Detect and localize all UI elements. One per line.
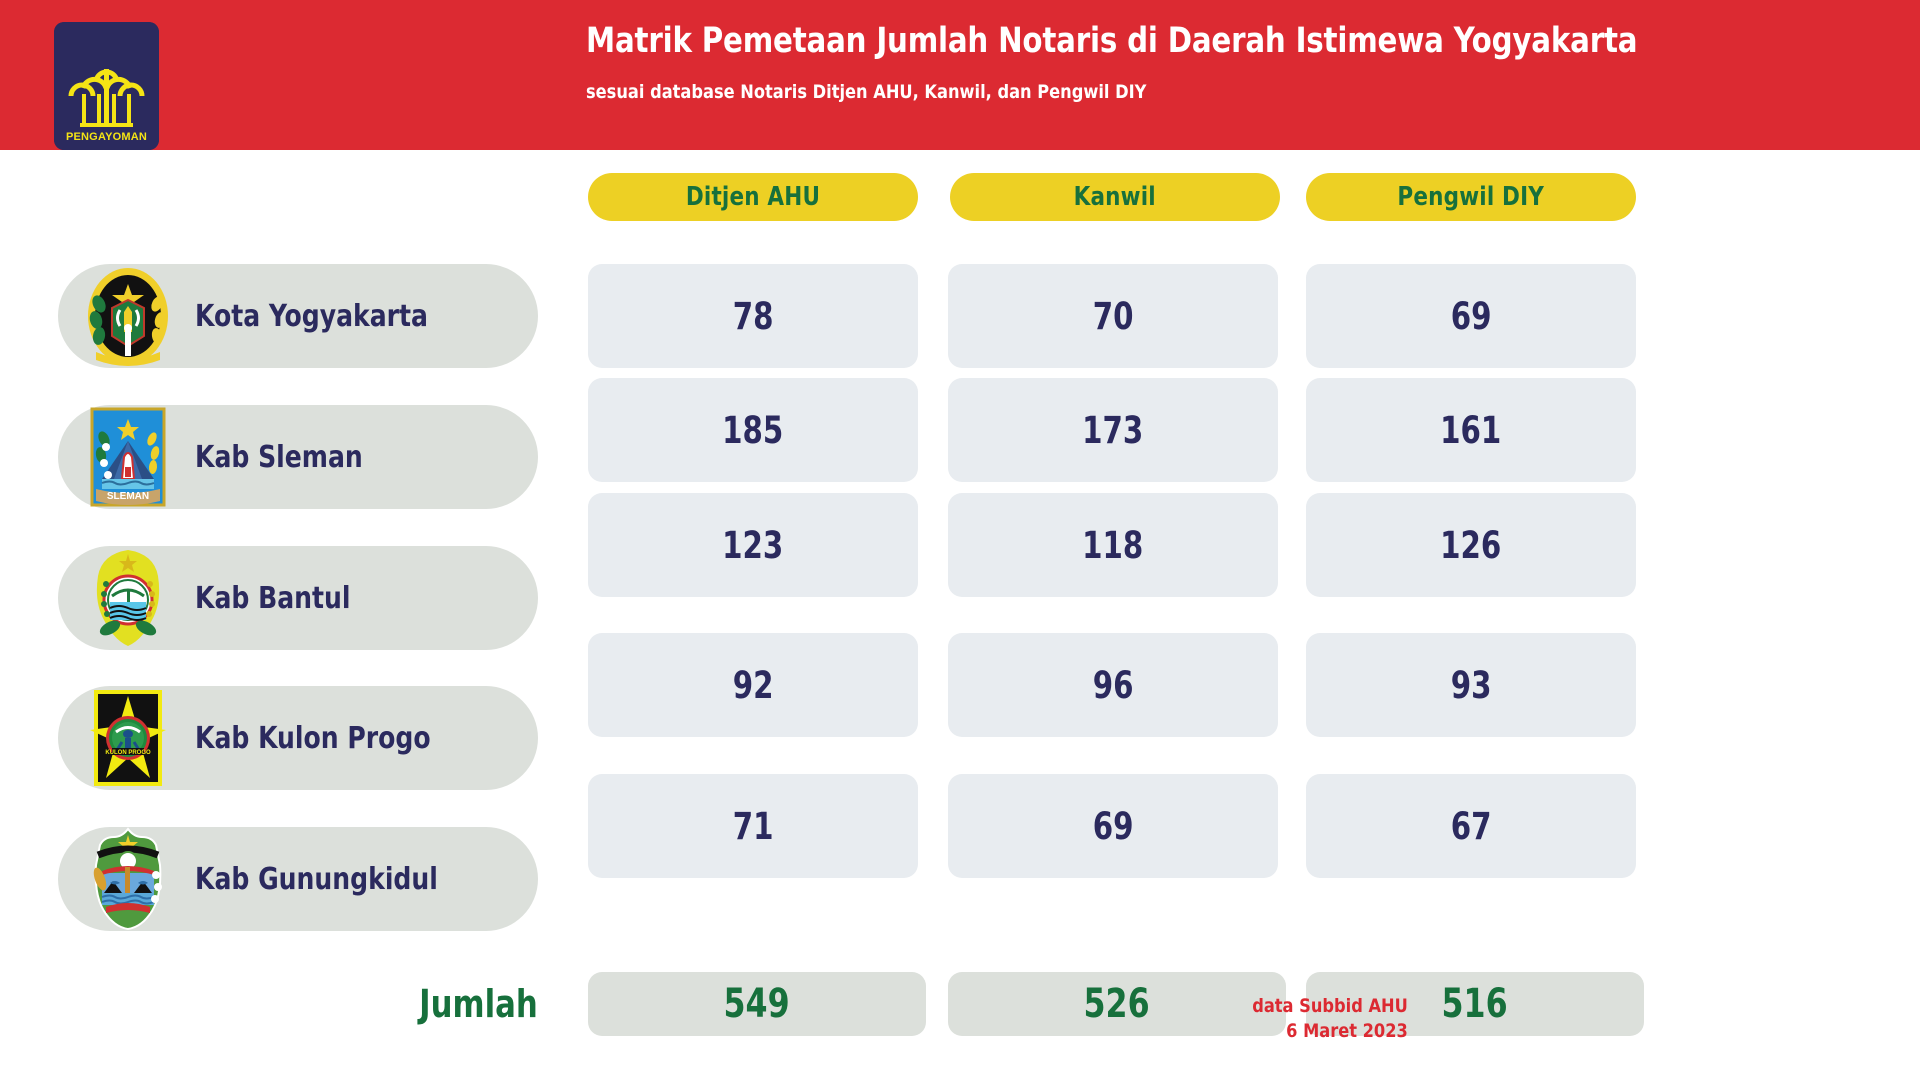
column-header-ditjen-ahu[interactable]: Ditjen AHU [588,173,918,221]
row-label-kota-yogyakarta[interactable]: Kota Yogyakarta [58,264,538,368]
data-cell: 70 [948,264,1278,368]
row-label-text: Kab Sleman [195,440,363,475]
row-label-text: Kab Bantul [195,581,350,616]
row-label-kab-sleman[interactable]: SLEMAN Kab Sleman [58,405,538,509]
total-label-text: Jumlah [419,982,538,1026]
column-header-kanwil[interactable]: Kanwil [950,173,1280,221]
crest-kab-bantul-icon [80,546,176,650]
page-title: Matrik Pemetaan Jumlah Notaris di Daerah… [586,20,1628,62]
cell-value: 92 [733,664,774,707]
data-cell: 126 [1306,493,1636,597]
cell-value: 173 [1082,409,1143,452]
data-cell: 93 [1306,633,1636,737]
cell-value: 118 [1082,524,1143,567]
cell-value: 161 [1440,409,1501,452]
data-cell: 185 [588,378,918,482]
column-header-label: Ditjen AHU [686,182,820,212]
poster-root: PENGAYOMAN Matrik Pemetaan Jumlah Notari… [0,0,1920,1080]
cell-value: 78 [733,295,774,338]
total-value: 516 [1442,981,1508,1027]
row-label-text: Kab Gunungkidul [195,862,438,897]
data-cell: 173 [948,378,1278,482]
data-cell: 96 [948,633,1278,737]
row-label-text: Kota Yogyakarta [195,299,428,334]
column-header-label: Kanwil [1074,182,1156,212]
column-header-pengwil-diy[interactable]: Pengwil DIY [1306,173,1636,221]
pengayoman-banyan-tree-icon: PENGAYOMAN [54,22,159,150]
data-cell: 123 [588,493,918,597]
header-text-block: Matrik Pemetaan Jumlah Notaris di Daerah… [586,20,1706,104]
credit-source: data Subbid AHU [1252,994,1408,1019]
cell-value: 70 [1093,295,1134,338]
total-value: 549 [724,981,790,1027]
data-cell: 161 [1306,378,1636,482]
cell-value: 93 [1451,664,1492,707]
data-cell: 69 [948,774,1278,878]
pengayoman-logo: PENGAYOMAN [54,22,159,150]
total-cell-ditjen-ahu: 549 [588,972,926,1036]
column-header-label: Pengwil DIY [1398,182,1545,212]
data-source-credit: data Subbid AHU 6 Maret 2023 [1244,994,1408,1044]
crest-kab-gunungkidul-icon [80,827,176,931]
credit-date: 6 Maret 2023 [1252,1019,1408,1044]
crest-kota-yogyakarta-icon [80,264,176,368]
cell-value: 71 [733,805,774,848]
cell-value: 69 [1451,295,1492,338]
page-subtitle: sesuai database Notaris Ditjen AHU, Kanw… [586,80,1650,104]
cell-value: 67 [1451,805,1492,848]
cell-value: 185 [722,409,783,452]
cell-value: 96 [1093,664,1134,707]
cell-value: 123 [722,524,783,567]
svg-text:KULON PROGO: KULON PROGO [105,750,151,756]
cell-value: 69 [1093,805,1134,848]
data-cell: 69 [1306,264,1636,368]
cell-value: 126 [1440,524,1501,567]
data-cell: 78 [588,264,918,368]
row-label-kab-kulon-progo[interactable]: KULON PROGO Kab Kulon Progo [58,686,538,790]
row-label-kab-bantul[interactable]: Kab Bantul [58,546,538,650]
svg-text:SLEMAN: SLEMAN [107,491,149,502]
data-cell: 92 [588,633,918,737]
crest-kab-sleman-icon: SLEMAN [80,405,176,509]
data-cell: 67 [1306,774,1636,878]
total-cell-kanwil: 526 [948,972,1286,1036]
total-value: 526 [1084,981,1150,1027]
svg-text:PENGAYOMAN: PENGAYOMAN [66,131,147,143]
total-row-label: Jumlah [58,972,538,1036]
header-band: PENGAYOMAN Matrik Pemetaan Jumlah Notari… [0,0,1920,150]
data-cell: 71 [588,774,918,878]
data-cell: 118 [948,493,1278,597]
crest-kab-kulon-progo-icon: KULON PROGO [80,686,176,790]
row-label-kab-gunungkidul[interactable]: Kab Gunungkidul [58,827,538,931]
row-label-text: Kab Kulon Progo [195,721,431,756]
